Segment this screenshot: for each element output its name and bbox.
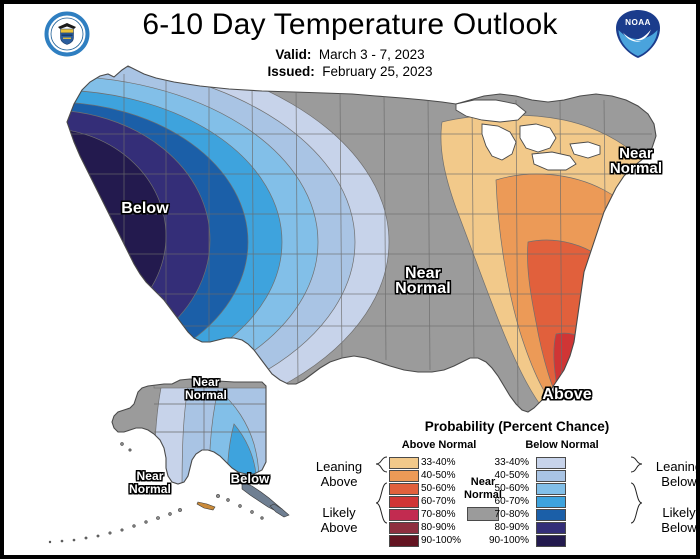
legend-swatch-below-70-80 bbox=[536, 509, 566, 521]
legend-header-above: Above Normal bbox=[389, 439, 489, 451]
legend-range-above-70-80: 70-80% bbox=[421, 509, 467, 520]
map-label-alaska-near-normal-north: NearNormal bbox=[170, 376, 242, 402]
legend-swatch-below-60-70 bbox=[536, 496, 566, 508]
legend-range-below-90-100: 90-100% bbox=[483, 535, 529, 546]
legend-swatch-above-90-100 bbox=[389, 535, 419, 547]
legend-range-below-80-90: 80-90% bbox=[483, 522, 529, 533]
legend-header-below: Below Normal bbox=[507, 439, 617, 451]
map-label-alaska-near-normal-west: NearNormal bbox=[114, 470, 186, 496]
map-label-near-normal-northeast: NearNormal bbox=[596, 146, 676, 176]
legend-swatch-above-60-70 bbox=[389, 496, 419, 508]
legend-title: Probability (Percent Chance) bbox=[394, 419, 640, 434]
map-label-alaska-below: Below bbox=[222, 471, 278, 486]
outlook-canvas: NOAA 6-10 Day Temperature Outlook Valid:… bbox=[4, 4, 696, 555]
legend-bracket-leaning-above: LeaningAbove bbox=[301, 459, 377, 489]
legend-swatch-below-33-40 bbox=[536, 457, 566, 469]
legend-range-below-33-40: 33-40% bbox=[483, 457, 529, 468]
legend-range-below-40-50: 40-50% bbox=[483, 470, 529, 481]
legend-range-below-70-80: 70-80% bbox=[483, 509, 529, 520]
legend-range-below-50-60: 50-60% bbox=[483, 483, 529, 494]
legend-range-above-33-40: 33-40% bbox=[421, 457, 467, 468]
legend-swatch-above-70-80 bbox=[389, 509, 419, 521]
map-label-above-florida: Above bbox=[531, 387, 603, 402]
legend-bracket-likely-above: LikelyAbove bbox=[301, 505, 377, 535]
map-label-near-normal-central: NearNormal bbox=[380, 266, 466, 296]
legend-bracket-leaning-below: LeaningBelow bbox=[641, 459, 696, 489]
legend-bracket-likely-below: LikelyBelow bbox=[641, 505, 696, 535]
legend-swatch-below-90-100 bbox=[536, 535, 566, 547]
legend-swatch-below-80-90 bbox=[536, 522, 566, 534]
legend-swatch-above-33-40 bbox=[389, 457, 419, 469]
legend-swatch-below-50-60 bbox=[536, 483, 566, 495]
legend: Probability (Percent Chance) Above Norma… bbox=[331, 419, 691, 555]
map-label-below-west: Below bbox=[110, 201, 180, 216]
legend-range-above-80-90: 80-90% bbox=[421, 522, 467, 533]
legend-swatch-above-50-60 bbox=[389, 483, 419, 495]
legend-swatch-above-40-50 bbox=[389, 470, 419, 482]
outlook-figure-frame: NOAA 6-10 Day Temperature Outlook Valid:… bbox=[0, 0, 700, 559]
legend-swatch-below-40-50 bbox=[536, 470, 566, 482]
legend-range-above-90-100: 90-100% bbox=[421, 535, 467, 546]
legend-swatch-above-80-90 bbox=[389, 522, 419, 534]
legend-range-below-60-70: 60-70% bbox=[483, 496, 529, 507]
